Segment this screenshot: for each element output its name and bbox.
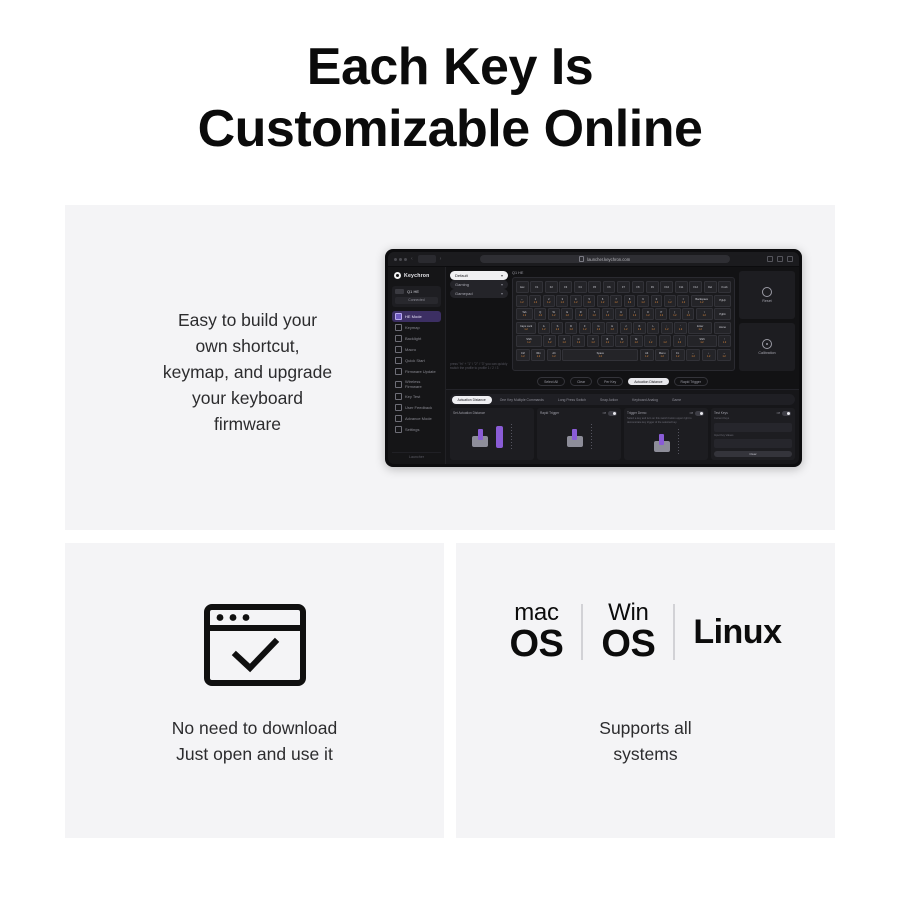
feature-card-no-download: No need to download Just open and use it xyxy=(65,543,444,838)
key-'[interactable]: '1.2 xyxy=(674,322,686,334)
key-d[interactable]: D1.2 xyxy=(565,322,577,334)
sidebar-item-macro[interactable]: Macro xyxy=(392,344,441,355)
browser-chrome-right xyxy=(767,256,793,262)
key-actuation-value: 1.2 xyxy=(722,355,725,358)
key-win[interactable]: Win1.2 xyxy=(531,349,545,361)
key-actuation-value: 1.2 xyxy=(620,341,623,344)
key-actuation-value: 1.2 xyxy=(539,314,542,317)
key-label: PgUp xyxy=(719,299,726,302)
launcher-copy: Easy to build your own shortcut, keymap,… xyxy=(105,307,390,437)
keyboard-row: Caps Lock1.2A1.2S1.2D1.2F1.2G1.2H1.2J1.2… xyxy=(516,322,731,334)
keyboard-icon xyxy=(395,289,404,294)
connection-status: Connected xyxy=(395,297,438,304)
action-actuation-distance[interactable]: Actuation Distance xyxy=(628,378,668,385)
tool-tab-one-key-multiple-commands[interactable]: One Key Multiple Commands xyxy=(494,396,550,404)
gear-icon xyxy=(395,426,402,433)
key-actuation-value: 1.2 xyxy=(700,301,703,304)
key-actuation-value: 1.2 xyxy=(548,341,551,344)
key-menu[interactable]: Menu1.2 xyxy=(655,349,669,361)
calibration-button-label: Calibration xyxy=(758,351,775,355)
test-icon xyxy=(395,393,402,400)
calibration-icon xyxy=(762,339,772,349)
key-=[interactable]: =1.2 xyxy=(677,295,689,307)
key-r[interactable]: R1.2 xyxy=(575,308,587,320)
scale-icon xyxy=(678,429,679,455)
calibration-button[interactable]: Calibration xyxy=(739,323,795,371)
sidebar-item-key-test[interactable]: Key Test xyxy=(392,391,441,402)
key-actuation-value: 1.2 xyxy=(645,355,648,358)
tool-panels: Set Actuation Distance xyxy=(450,408,795,460)
key-pgup[interactable]: PgUp xyxy=(714,295,731,307)
test-keys-toggle-row[interactable]: Off xyxy=(777,411,791,416)
key-w[interactable]: W1.2 xyxy=(548,308,560,320)
no-download-caption-line-2: Just open and use it xyxy=(65,741,444,767)
key-actuation-value: 1.2 xyxy=(635,341,638,344)
rocket-icon xyxy=(395,357,402,364)
toggle-label: Off xyxy=(603,412,606,415)
sidebar-item-wireless-firmware[interactable]: Wireless Firmware xyxy=(392,377,441,391)
key-actuation-value: 1.2 xyxy=(566,314,569,317)
toggle-switch[interactable] xyxy=(782,411,791,416)
key-←[interactable]: ←1.2 xyxy=(686,349,700,361)
key-label: F1 xyxy=(535,286,538,289)
key-actuation-value: 1.2 xyxy=(641,301,644,304)
os-logo-linux-big: Linux xyxy=(693,601,781,663)
clear-button[interactable]: Clear xyxy=(714,451,792,457)
key-actuation-value: 1.2 xyxy=(542,328,545,331)
key-a[interactable]: A1.2 xyxy=(538,322,550,334)
macro-icon xyxy=(395,346,402,353)
laptop-mockup: ‹ › launcher.keychron.com xyxy=(385,249,802,467)
key-actuation-value: 1.2 xyxy=(707,355,710,358)
profile-label: Gaming xyxy=(455,282,469,287)
browser-check-icon xyxy=(203,603,307,692)
profile-default[interactable]: Default▾ xyxy=(450,271,508,280)
key-/[interactable]: /1.2 xyxy=(673,335,686,347)
key-fn[interactable]: Fn1.2 xyxy=(671,349,685,361)
profile-column: Default▾Gaming▾Gamepad▾ press "fn" + "1"… xyxy=(450,271,508,371)
key-caps-lock[interactable]: Caps Lock1.2 xyxy=(516,322,536,334)
key-actuation-value: 1.2 xyxy=(614,301,617,304)
profile-list: Default▾Gaming▾Gamepad▾ xyxy=(450,271,508,298)
os-support-caption-line-2: systems xyxy=(456,741,835,767)
launcher-copy-line-4: your keyboard xyxy=(105,385,390,411)
panel-test-keys[interactable]: Test Keys Off Current Keys Input Key Val… xyxy=(711,408,795,460)
toggle-label: Off xyxy=(777,412,780,415)
key-actuation-value: 1.2 xyxy=(624,328,627,331)
brand-name: Keychron xyxy=(404,273,430,279)
keyboard-row: Shift1.2Z1.2X1.2C1.2V1.2B1.2N1.2M1.2,1.2… xyxy=(516,335,731,347)
key-z[interactable]: Z1.2 xyxy=(543,335,556,347)
key-enter[interactable]: Enter1.2 xyxy=(688,322,712,334)
sidebar-nav: HE ModeKeymapBacklightMacroQuick StartFi… xyxy=(392,311,441,435)
key-→[interactable]: →1.2 xyxy=(717,349,731,361)
side-button-column: Reset Calibration xyxy=(739,271,795,371)
key-~[interactable]: ~1.2 xyxy=(516,295,528,307)
keyboard-row: ~1.211.221.231.241.251.261.271.281.291.2… xyxy=(516,295,731,307)
key-del[interactable]: Del xyxy=(704,281,717,293)
key-alt[interactable]: Alt1.2 xyxy=(640,349,654,361)
key-label: Del xyxy=(708,286,712,289)
feature-card-launcher: Easy to build your own shortcut, keymap,… xyxy=(65,205,835,530)
switch-illustration xyxy=(453,417,531,457)
tool-tab-snap-action[interactable]: Snap Action xyxy=(594,396,624,404)
key-3[interactable]: 31.2 xyxy=(556,295,568,307)
key-g[interactable]: G1.2 xyxy=(592,322,604,334)
profile-gamepad[interactable]: Gamepad▾ xyxy=(450,289,508,298)
page-title-line-1: Each Key Is xyxy=(0,36,900,98)
sidebar-item-label: Macro xyxy=(405,347,416,352)
key-↓[interactable]: ↓1.2 xyxy=(702,349,716,361)
bulb-icon xyxy=(395,335,402,342)
key-actuation-value: 1.2 xyxy=(523,314,526,317)
key-actuation-value: 1.2 xyxy=(534,301,537,304)
key-actuation-value: 1.2 xyxy=(633,314,636,317)
key-f6[interactable]: F6 xyxy=(603,281,616,293)
tool-tab-long-press-switch[interactable]: Long Press Switch xyxy=(552,396,592,404)
os-support-caption-line-1: Supports all xyxy=(456,715,835,741)
sidebar-item-label: Quick Start xyxy=(405,358,425,363)
key-f3[interactable]: F3 xyxy=(559,281,572,293)
key-6[interactable]: 61.2 xyxy=(597,295,609,307)
os-logo-macos-small: mac xyxy=(510,601,564,625)
key-9[interactable]: 91.2 xyxy=(637,295,649,307)
key-e[interactable]: E1.2 xyxy=(561,308,573,320)
key--[interactable]: -1.2 xyxy=(664,295,676,307)
os-divider-1 xyxy=(581,604,583,660)
os-logo-winos: Win OS xyxy=(601,601,655,663)
tool-tab-keyboard-analog[interactable]: Keyboard Analog xyxy=(626,396,664,404)
key-actuation-value: 1.2 xyxy=(663,341,666,344)
key-label: F7 xyxy=(622,286,625,289)
action-per-key[interactable]: Per Key xyxy=(597,377,623,386)
key-↑[interactable]: ↑1.2 xyxy=(718,335,731,347)
key-label: F2 xyxy=(550,286,553,289)
key-actuation-value: 1.2 xyxy=(678,341,681,344)
key-actuation-value: 1.2 xyxy=(661,355,664,358)
tool-tab-actuation-distance[interactable]: Actuation Distance xyxy=(452,396,492,404)
profile-label: Gamepad xyxy=(455,291,473,296)
scale-icon xyxy=(511,424,512,450)
key-actuation-value: 1.2 xyxy=(556,328,559,331)
browser-chrome: ‹ › launcher.keychron.com xyxy=(388,252,799,267)
key-actuation-value: 1.2 xyxy=(655,301,658,304)
key-,[interactable]: ,1.2 xyxy=(644,335,657,347)
key-f11[interactable]: F11 xyxy=(675,281,688,293)
key-c[interactable]: C1.2 xyxy=(572,335,585,347)
key-t[interactable]: T1.2 xyxy=(588,308,600,320)
device-card[interactable]: Q1 HE Connected xyxy=(392,286,441,307)
url-bar[interactable]: launcher.keychron.com xyxy=(480,255,730,263)
key-label: F8 xyxy=(636,286,639,289)
reset-button[interactable]: Reset xyxy=(739,271,795,319)
switch-icon xyxy=(567,427,583,447)
key-f7[interactable]: F7 xyxy=(617,281,630,293)
key-label: F11 xyxy=(679,286,683,289)
key-actuation-value: 1.2 xyxy=(668,301,671,304)
key-f1[interactable]: F1 xyxy=(530,281,543,293)
key-actuation-value: 1.2 xyxy=(606,314,609,317)
os-logo-linux: Linux xyxy=(693,601,781,663)
key-actuation-value: 1.2 xyxy=(651,328,654,331)
key-shift[interactable]: Shift1.2 xyxy=(516,335,542,347)
keyboard-icon xyxy=(395,324,402,331)
page-title: Each Key Is Customizable Online xyxy=(0,36,900,160)
rapid-trigger-toggle-row[interactable]: Off xyxy=(603,411,617,416)
toggle-switch[interactable] xyxy=(695,411,704,416)
input-key-values-label: Input Key Values xyxy=(714,434,792,438)
key-f2[interactable]: F2 xyxy=(545,281,558,293)
plus-icon[interactable] xyxy=(777,256,783,262)
tool-tabbar: Actuation DistanceOne Key Multiple Comma… xyxy=(450,394,795,405)
feature-card-os-support: mac OS Win OS Linux Supports all systems xyxy=(456,543,835,838)
sidebar-item-label: Keymap xyxy=(405,325,420,330)
key-backspace[interactable]: Backspace1.2 xyxy=(691,295,713,307)
key-actuation-value: 1.2 xyxy=(700,341,703,344)
browser-tab[interactable] xyxy=(418,255,436,263)
key-actuation-value: 1.2 xyxy=(660,314,663,317)
key-actuation-value: 1.2 xyxy=(601,301,604,304)
tabs-icon[interactable] xyxy=(787,256,793,262)
key-actuation-value: 1.2 xyxy=(527,341,530,344)
scale-icon xyxy=(591,424,592,450)
sidebar-item-label: Backlight xyxy=(405,336,421,341)
share-icon[interactable] xyxy=(767,256,773,262)
device-name: Q1 HE xyxy=(407,289,419,294)
chevron-down-icon: ▾ xyxy=(501,273,503,278)
key-[[interactable]: [1.2 xyxy=(669,308,681,320)
key-actuation-value: 1.2 xyxy=(597,328,600,331)
tool-tab-game[interactable]: Game xyxy=(666,396,687,404)
laptop-screen: ‹ › launcher.keychron.com xyxy=(388,252,799,464)
launcher-app-body: Keychron Q1 HE Connected HE ModeKeymapBa… xyxy=(388,267,799,464)
key-actuation-value: 1.2 xyxy=(577,341,580,344)
sidebar-item-advance-mode[interactable]: Advance Mode xyxy=(392,413,441,424)
toggle-label: Off xyxy=(690,412,693,415)
key-tab[interactable]: Tab1.2 xyxy=(516,308,533,320)
launcher-copy-line-2: own shortcut, xyxy=(105,333,390,359)
reset-button-label: Reset xyxy=(762,299,771,303)
key-0[interactable]: 01.2 xyxy=(651,295,663,307)
key-alt[interactable]: Alt1.2 xyxy=(547,349,561,361)
reset-icon xyxy=(762,287,772,297)
key-m[interactable]: M1.2 xyxy=(630,335,643,347)
distance-slider[interactable] xyxy=(496,426,503,448)
key-shift[interactable]: Shift1.2 xyxy=(687,335,716,347)
key-f12[interactable]: F12 xyxy=(689,281,702,293)
nav-forward-icon[interactable]: › xyxy=(440,256,443,262)
key-p[interactable]: P1.2 xyxy=(655,308,667,320)
key-8[interactable]: 81.2 xyxy=(624,295,636,307)
keyboard-row: Ctrl1.2Win1.2Alt1.2Space1.2Alt1.2Menu1.2… xyxy=(516,349,731,361)
launcher-main: Default▾Gaming▾Gamepad▾ press "fn" + "1"… xyxy=(446,267,799,464)
key-actuation-value: 1.2 xyxy=(610,328,613,331)
key-knob[interactable]: Knob xyxy=(718,281,731,293)
key-f8[interactable]: F8 xyxy=(632,281,645,293)
key-s[interactable]: S1.2 xyxy=(551,322,563,334)
key-actuation-value: 1.2 xyxy=(583,328,586,331)
key-u[interactable]: U1.2 xyxy=(615,308,627,320)
sidebar-item-label: User Feedback xyxy=(405,405,432,410)
key-esc[interactable]: Esc xyxy=(516,281,529,293)
sidebar-item-label: Advance Mode xyxy=(405,416,432,421)
key-actuation-value: 1.2 xyxy=(563,341,566,344)
key-b[interactable]: B1.2 xyxy=(601,335,614,347)
url-text: launcher.keychron.com xyxy=(587,257,630,262)
current-keys-label: Current Keys xyxy=(714,417,792,421)
key-j[interactable]: J1.2 xyxy=(620,322,632,334)
key-h[interactable]: H1.2 xyxy=(606,322,618,334)
device-row: Q1 HE xyxy=(395,289,438,294)
sidebar-item-he-mode[interactable]: HE Mode xyxy=(392,311,441,322)
key-.[interactable]: .1.2 xyxy=(659,335,672,347)
keyboard-row: EscF1F2F3F4F5F6F7F8F9F10F11F12DelKnob xyxy=(516,281,731,293)
keyboard-row: Tab1.2Q1.2W1.2E1.2R1.2T1.2Y1.2U1.2I1.2O1… xyxy=(516,308,731,320)
nav-back-icon[interactable]: ‹ xyxy=(411,256,414,262)
keychron-logo-icon xyxy=(394,272,401,279)
key-ctrl[interactable]: Ctrl1.2 xyxy=(516,349,530,361)
key-actuation-value: 1.2 xyxy=(673,314,676,317)
key-f5[interactable]: F5 xyxy=(588,281,601,293)
chevron-down-icon: ▾ xyxy=(501,282,503,287)
key-;[interactable]: ;1.2 xyxy=(661,322,673,334)
key-k[interactable]: K1.2 xyxy=(633,322,645,334)
browser-chrome-left: ‹ › xyxy=(394,255,442,263)
key-2[interactable]: 21.2 xyxy=(543,295,555,307)
lock-icon xyxy=(579,256,584,262)
profile-gaming[interactable]: Gaming▾ xyxy=(450,280,508,289)
key-\[interactable]: \1.2 xyxy=(696,308,713,320)
os-divider-2 xyxy=(673,604,675,660)
action-button-row: Select AllClearPer KeyActuation Distance… xyxy=(446,375,799,389)
key-1[interactable]: 11.2 xyxy=(529,295,541,307)
launcher-copy-line-1: Easy to build your xyxy=(105,307,390,333)
os-logo-macos: mac OS xyxy=(510,601,564,663)
panel-actuation-distance[interactable]: Set Actuation Distance xyxy=(450,408,534,460)
os-logo-winos-small: Win xyxy=(601,601,655,625)
key-q[interactable]: Q1.2 xyxy=(534,308,546,320)
sidebar-footer: Launcher xyxy=(392,452,441,460)
key-][interactable]: ]1.2 xyxy=(682,308,694,320)
sidebar-item-quick-start[interactable]: Quick Start xyxy=(392,355,441,366)
wifi-icon xyxy=(395,381,402,388)
key-actuation-value: 1.2 xyxy=(552,355,555,358)
key-actuation-value: 1.2 xyxy=(676,355,679,358)
no-download-caption-line-1: No need to download xyxy=(65,715,444,741)
key-y[interactable]: Y1.2 xyxy=(602,308,614,320)
os-logo-winos-big: OS xyxy=(601,625,655,663)
panel-rapid-trigger[interactable]: Rapid Trigger Off xyxy=(537,408,621,460)
action-select-all[interactable]: Select All xyxy=(537,377,565,386)
action-clear[interactable]: Clear xyxy=(570,377,592,386)
key-actuation-value: 1.2 xyxy=(628,301,631,304)
keyboard-wrap: Q1 HE EscF1F2F3F4F5F6F7F8F9F10F11F12DelK… xyxy=(512,271,735,371)
launcher-copy-line-5: firmware xyxy=(105,411,390,437)
key-n[interactable]: N1.2 xyxy=(615,335,628,347)
chat-icon xyxy=(395,404,402,411)
key-f9[interactable]: F9 xyxy=(646,281,659,293)
key-actuation-value: 1.2 xyxy=(524,328,527,331)
switch-illustration xyxy=(540,417,618,457)
key-actuation-value: 1.2 xyxy=(574,301,577,304)
key-actuation-value: 1.2 xyxy=(679,328,682,331)
key-f10[interactable]: F10 xyxy=(660,281,673,293)
key-label: F3 xyxy=(564,286,567,289)
key-label: Esc xyxy=(520,286,524,289)
key-actuation-value: 1.2 xyxy=(588,301,591,304)
key-actuation-value: 1.2 xyxy=(592,314,595,317)
keyboard-layout[interactable]: EscF1F2F3F4F5F6F7F8F9F10F11F12DelKnob~1.… xyxy=(512,277,735,371)
launcher-tool-section: Actuation DistanceOne Key Multiple Comma… xyxy=(446,389,799,464)
key-i[interactable]: I1.2 xyxy=(629,308,641,320)
input-key-values-field[interactable] xyxy=(714,439,792,448)
key-label: F9 xyxy=(651,286,654,289)
key-actuation-value: 1.2 xyxy=(665,328,668,331)
key-label: PgDn xyxy=(719,313,726,316)
trigger-demo-toggle-row[interactable]: Off xyxy=(690,411,704,416)
key-o[interactable]: O1.2 xyxy=(642,308,654,320)
key-5[interactable]: 51.2 xyxy=(583,295,595,307)
current-keys-field[interactable] xyxy=(714,423,792,432)
launcher-sidebar: Keychron Q1 HE Connected HE ModeKeymapBa… xyxy=(388,267,446,464)
os-logo-macos-big: OS xyxy=(510,625,564,663)
key-label: Home xyxy=(719,326,726,329)
key-space[interactable]: Space1.2 xyxy=(562,349,638,361)
keyboard-layout-title: Q1 HE xyxy=(512,271,735,275)
key-actuation-value: 1.2 xyxy=(606,341,609,344)
download-icon xyxy=(395,368,402,375)
chevron-down-icon: ▾ xyxy=(501,291,503,296)
key-actuation-value: 1.2 xyxy=(638,328,641,331)
launcher-top-section: Default▾Gaming▾Gamepad▾ press "fn" + "1"… xyxy=(446,267,799,375)
switch-illustration xyxy=(627,426,705,457)
key-actuation-value: 1.2 xyxy=(561,301,564,304)
sidebar-item-label: Wireless Firmware xyxy=(405,379,438,389)
key-label: F6 xyxy=(608,286,611,289)
sidebar-item-backlight[interactable]: Backlight xyxy=(392,333,441,344)
key-7[interactable]: 71.2 xyxy=(610,295,622,307)
window-controls[interactable] xyxy=(394,258,407,261)
key-actuation-value: 1.2 xyxy=(599,355,602,358)
key-f[interactable]: F1.2 xyxy=(579,322,591,334)
page-title-line-2: Customizable Online xyxy=(0,98,900,160)
key-v[interactable]: V1.2 xyxy=(587,335,600,347)
action-rapid-trigger[interactable]: Rapid Trigger xyxy=(674,377,708,386)
key-pgdn[interactable]: PgDn xyxy=(714,308,731,320)
key-actuation-value: 1.2 xyxy=(619,314,622,317)
key-x[interactable]: X1.2 xyxy=(558,335,571,347)
key-4[interactable]: 41.2 xyxy=(570,295,582,307)
gear-advanced-icon xyxy=(395,415,402,422)
panel-trigger-demo[interactable]: Trigger Demo Off Select a key and turn o… xyxy=(624,408,708,460)
key-actuation-value: 1.2 xyxy=(521,355,524,358)
key-label: F12 xyxy=(693,286,697,289)
sidebar-item-keymap[interactable]: Keymap xyxy=(392,322,441,333)
key-f4[interactable]: F4 xyxy=(574,281,587,293)
switch-icon xyxy=(472,427,488,447)
os-support-caption: Supports all systems xyxy=(456,715,835,767)
key-l[interactable]: L1.2 xyxy=(647,322,659,334)
sidebar-item-firmware-update[interactable]: Firmware Update xyxy=(392,366,441,377)
sidebar-item-settings[interactable]: Settings xyxy=(392,424,441,435)
key-home[interactable]: Home xyxy=(714,322,731,334)
panel-description: Select a key and turn on this switch but… xyxy=(627,417,705,424)
profile-note: press "fn" + "1" / "2" / "3" you can qui… xyxy=(450,362,508,371)
key-actuation-value: 1.2 xyxy=(649,341,652,344)
key-actuation-value: 1.2 xyxy=(646,314,649,317)
sidebar-item-user-feedback[interactable]: User Feedback xyxy=(392,402,441,413)
toggle-switch[interactable] xyxy=(608,411,617,416)
